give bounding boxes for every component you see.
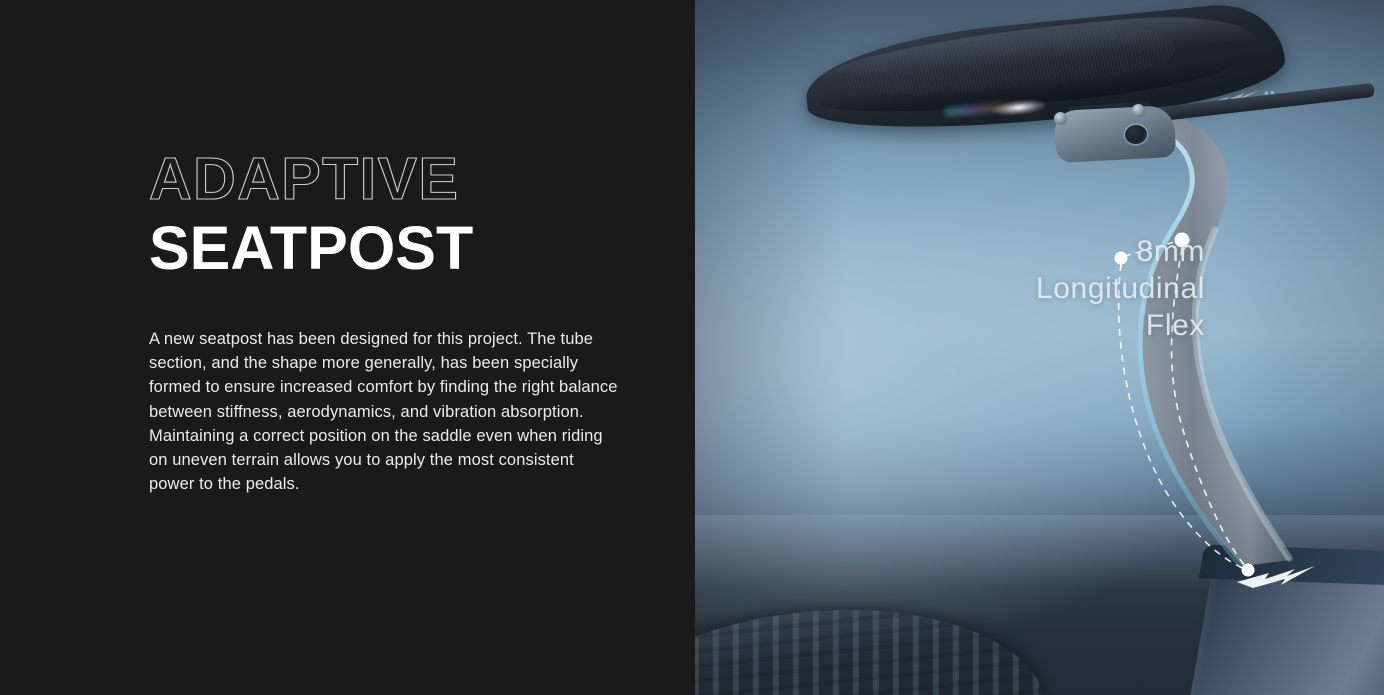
page-title: ADAPTIVE SEATPOST — [149, 150, 473, 280]
annotation-line-1: 8mm — [845, 233, 1205, 270]
post-base-node — [1242, 564, 1255, 577]
annotation-line-3: Flex — [845, 307, 1205, 344]
flex-measurement-overlay — [695, 0, 1384, 695]
product-photo-panel: 8mm Longitudinal Flex — [695, 0, 1384, 695]
flex-annotation: 8mm Longitudinal Flex — [845, 233, 1205, 344]
body-copy: A new seatpost has been designed for thi… — [149, 327, 619, 496]
body-paragraph: A new seatpost has been designed for thi… — [149, 327, 619, 496]
title-solid-seatpost: SEATPOST — [149, 216, 473, 280]
slide-root: ADAPTIVE SEATPOST A new seatpost has bee… — [0, 0, 1384, 695]
title-outline-adaptive: ADAPTIVE — [149, 150, 473, 209]
annotation-line-2: Longitudinal — [845, 270, 1205, 307]
text-panel: ADAPTIVE SEATPOST A new seatpost has bee… — [0, 0, 695, 695]
